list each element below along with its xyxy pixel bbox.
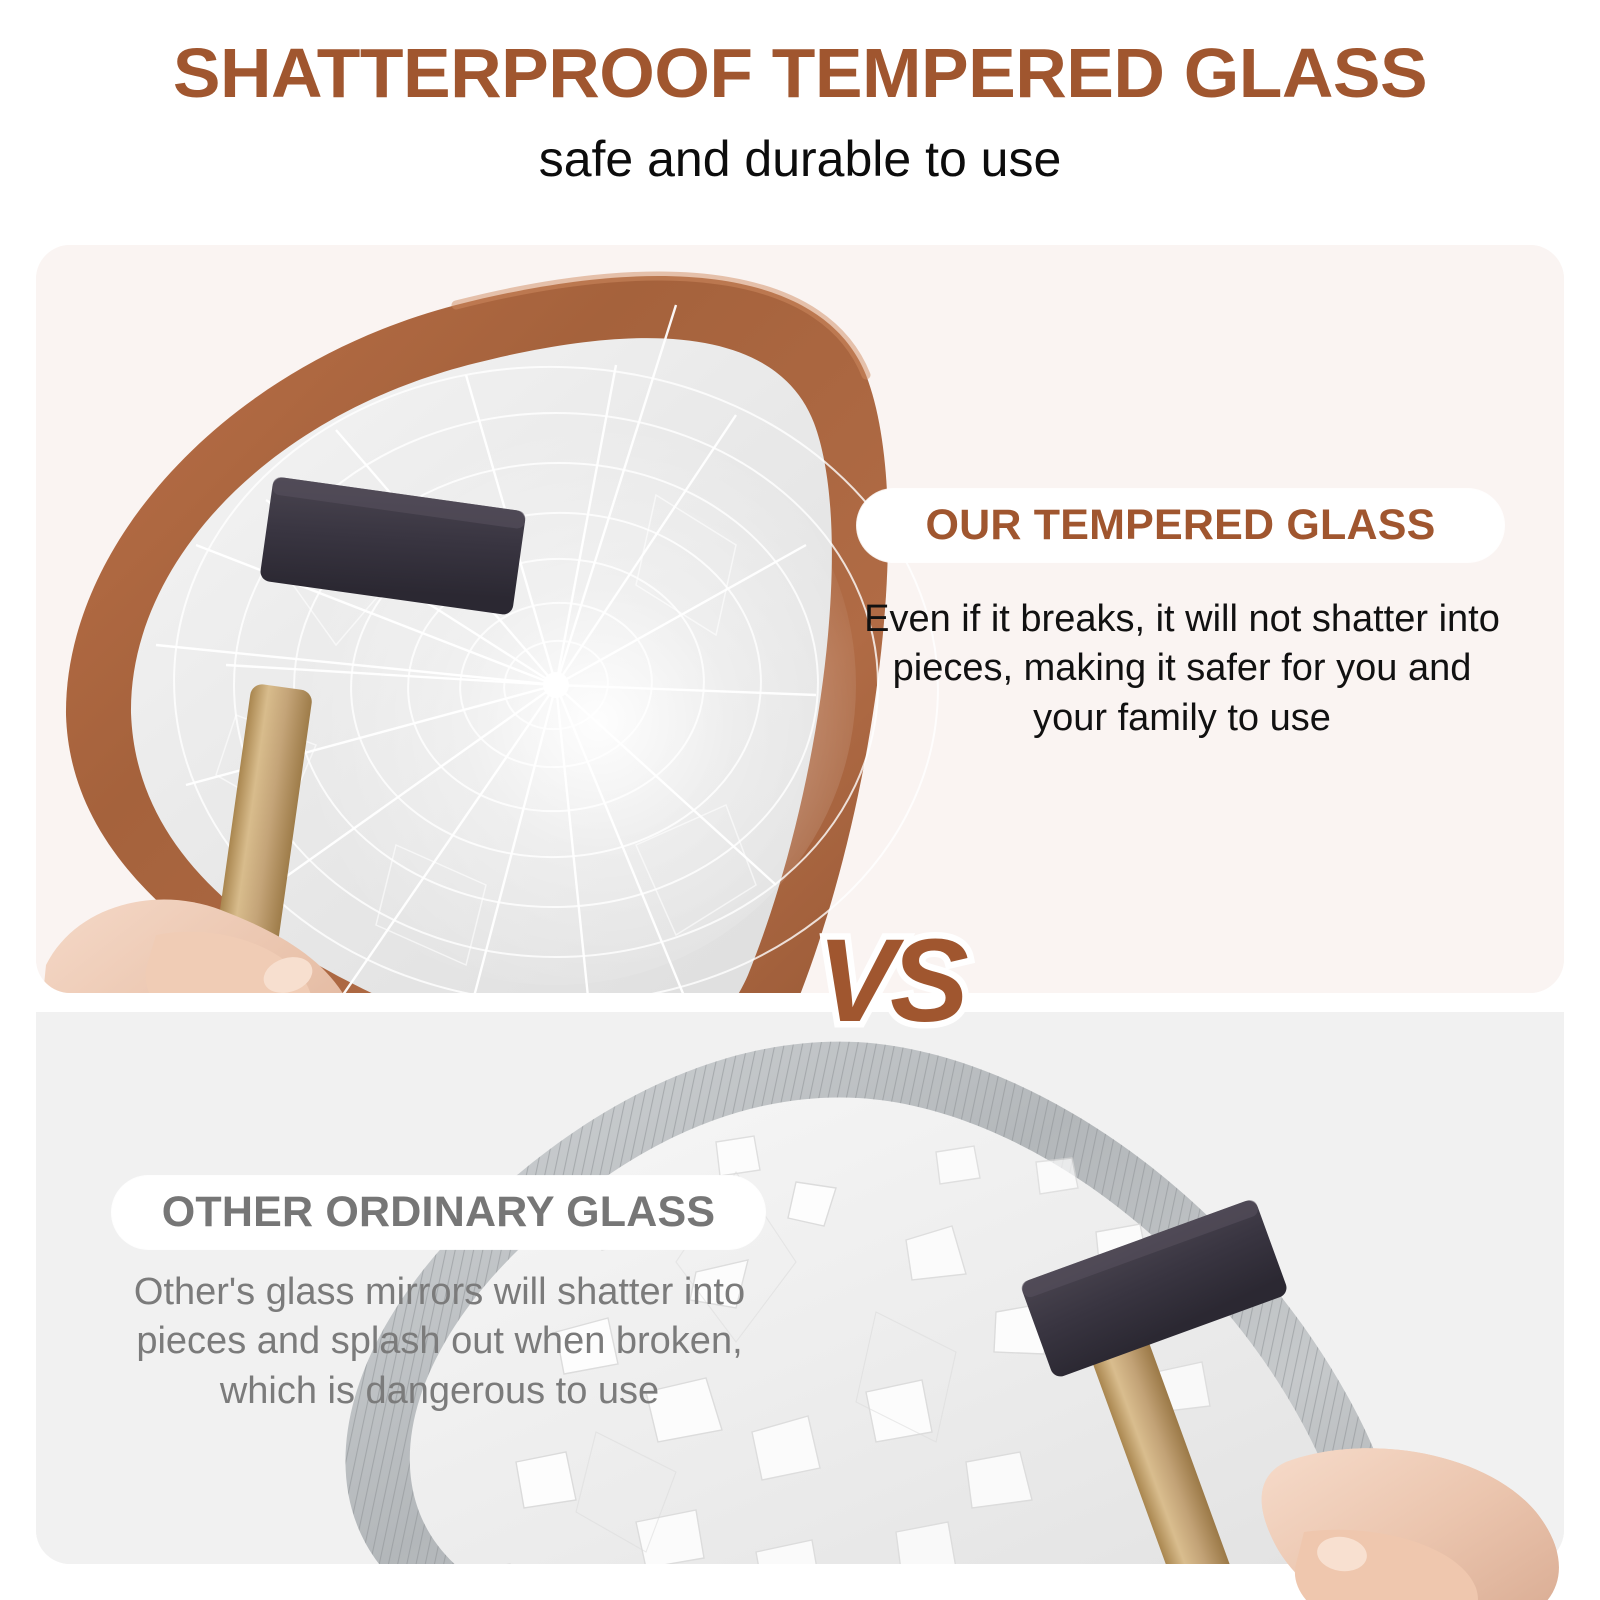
other-ordinary-glass-badge: OTHER ORDINARY GLASS <box>112 1176 765 1249</box>
our-tempered-glass-badge-label: OUR TEMPERED GLASS <box>925 504 1435 547</box>
ordinary-glass-description: Other's glass mirrors will shatter into … <box>112 1268 767 1416</box>
page-subtitle: safe and durable to use <box>0 134 1600 184</box>
our-tempered-glass-badge: OUR TEMPERED GLASS <box>857 489 1504 562</box>
tempered-glass-description: Even if it breaks, it will not shatter i… <box>862 595 1502 743</box>
header: SHATTERPROOF TEMPERED GLASS safe and dur… <box>0 0 1600 230</box>
other-ordinary-glass-badge-label: OTHER ORDINARY GLASS <box>162 1191 716 1234</box>
page-title: SHATTERPROOF TEMPERED GLASS <box>0 38 1600 108</box>
